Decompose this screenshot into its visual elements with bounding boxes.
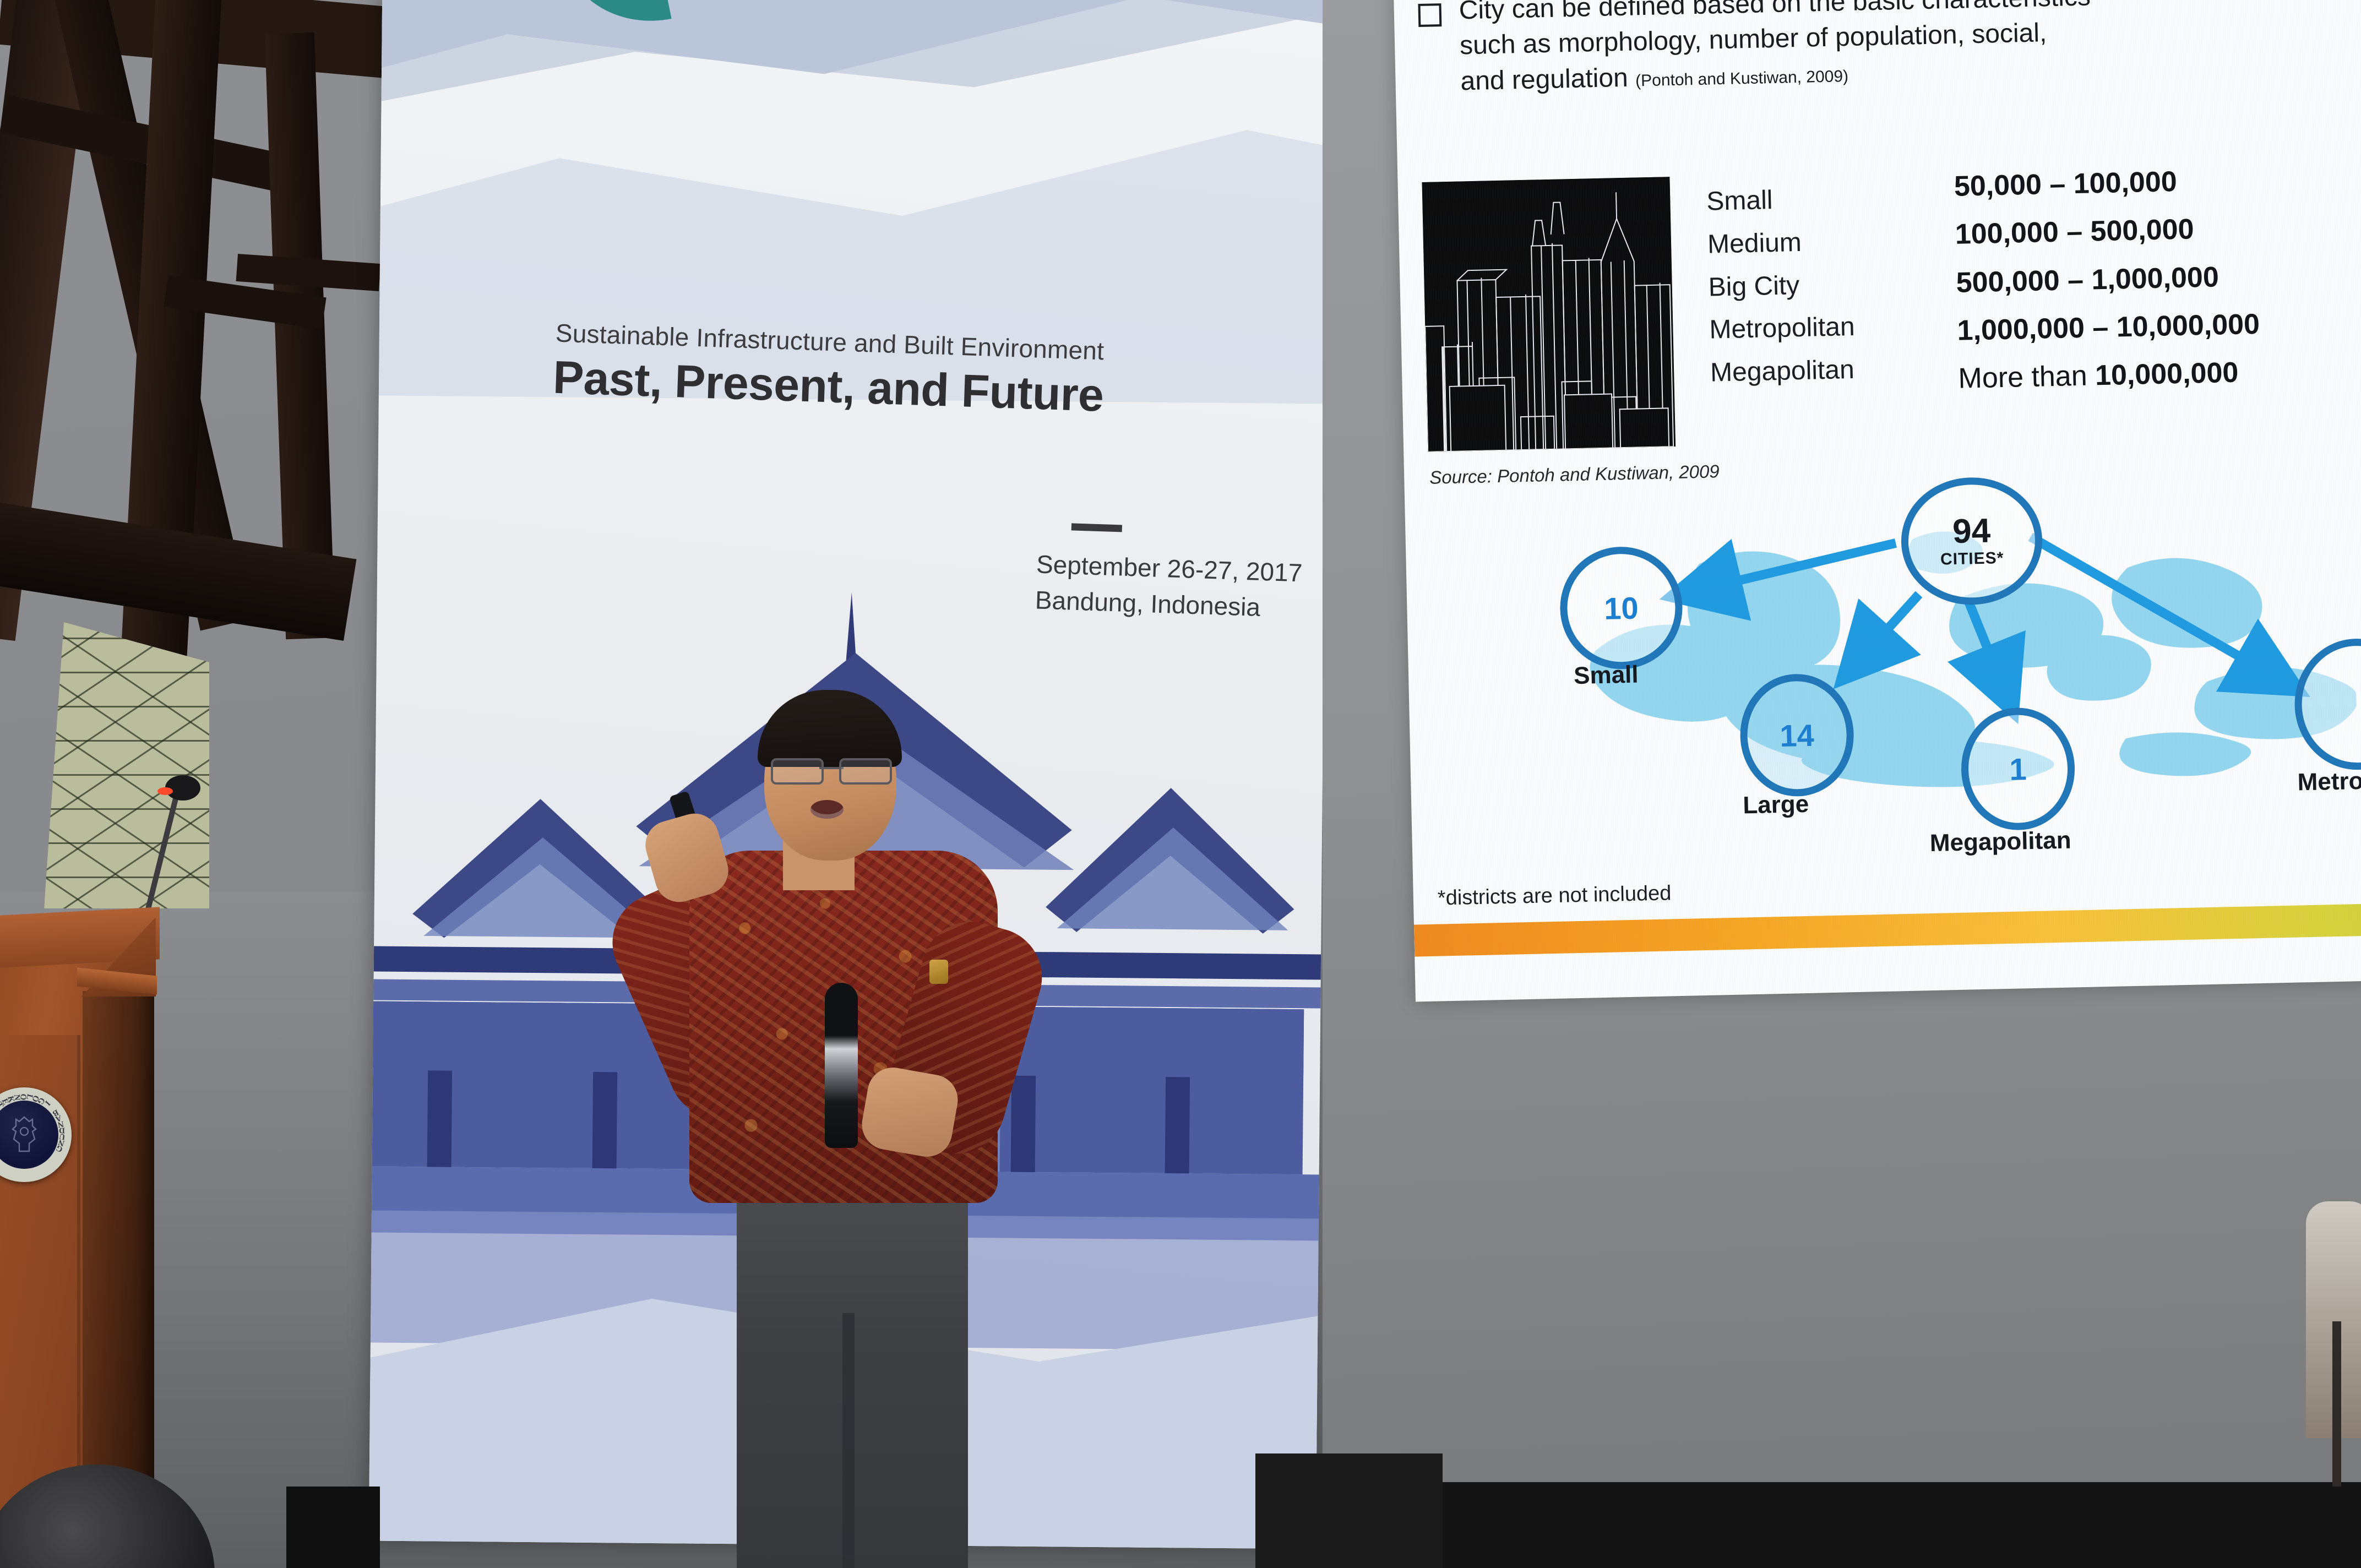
city-class-label: Megapolitan bbox=[1710, 349, 1856, 394]
lattice-window bbox=[44, 622, 209, 908]
speaker-mouth bbox=[810, 800, 844, 819]
city-skyline-image bbox=[1422, 177, 1676, 452]
slide-bullet: City can be defined based on the basic c… bbox=[1418, 0, 2361, 100]
total-cities-caption: CITIES* bbox=[1940, 549, 2004, 569]
bullet-citation: (Pontoh and Kustiwan, 2009) bbox=[1635, 67, 1849, 90]
megapolitan-count: 1 bbox=[2009, 751, 2027, 787]
speaker-lapel-pin bbox=[929, 960, 948, 984]
projected-slide: City can be defined based on the basic c… bbox=[1393, 0, 2361, 1002]
city-distribution-diagram: 94 CITIES* 10 14 1 Small Large Megapolit… bbox=[1405, 462, 2361, 925]
city-population-range: 50,000 – 100,000 bbox=[1954, 156, 2257, 211]
conference-logo bbox=[553, 0, 736, 46]
screenshot-root: INSTITUT TEKNOLOGI BANDUNG Sustainable I… bbox=[0, 0, 2361, 1568]
loudspeaker bbox=[286, 1487, 380, 1568]
diagram-arrows bbox=[1405, 462, 2361, 925]
speaker-hair bbox=[758, 690, 902, 767]
speaker-trouser-seam bbox=[842, 1313, 855, 1568]
eyeglass-lens-left bbox=[771, 758, 824, 785]
small-count: 10 bbox=[1604, 590, 1639, 626]
skyline-wireframe-icon bbox=[1422, 177, 1676, 452]
city-class-label: Small bbox=[1706, 177, 1853, 223]
diagram-label-megapolitan: Megapolitan bbox=[1929, 827, 2071, 858]
window-mullion bbox=[44, 842, 209, 908]
window-mullion bbox=[44, 706, 209, 707]
eyeglass-lens-right bbox=[839, 758, 892, 785]
logo-swoosh-teal bbox=[563, 0, 671, 37]
handheld-microphone bbox=[825, 983, 858, 1148]
city-population-range: 1,000,000 – 10,000,000 bbox=[1957, 301, 2260, 355]
city-population-range: More than 10,000,000 bbox=[1958, 349, 2261, 403]
stage-floor-riser bbox=[1255, 1453, 1443, 1568]
window-mullion bbox=[44, 672, 209, 673]
diagram-label-large: Large bbox=[1743, 791, 1809, 820]
population-range-values: 50,000 – 100,000100,000 – 500,000500,000… bbox=[1954, 156, 2261, 404]
temple-column bbox=[427, 1070, 453, 1169]
temple-column bbox=[1165, 1077, 1190, 1176]
window-mullion bbox=[44, 808, 209, 810]
total-cities-value: 94 bbox=[1952, 514, 1990, 548]
eyeglasses-icon bbox=[771, 758, 892, 780]
city-class-label: Metropolitan bbox=[1709, 306, 1856, 351]
bullet-text: City can be defined based on the basic c… bbox=[1459, 0, 2092, 99]
emblem-ring-char: I bbox=[42, 1098, 52, 1108]
diagram-label-metro: Metro bbox=[2297, 767, 2361, 797]
itb-emblem: INSTITUT TEKNOLOGI BANDUNG bbox=[0, 1087, 72, 1182]
city-class-labels: SmallMediumBig CityMetropolitanMegapolit… bbox=[1706, 177, 1857, 394]
ganesha-icon bbox=[7, 1115, 41, 1155]
city-class-label: Big City bbox=[1708, 263, 1854, 308]
window-mullion bbox=[44, 848, 209, 908]
diagram-label-small: Small bbox=[1574, 661, 1639, 690]
banner-date-location: September 26-27, 2017 Bandung, Indonesia bbox=[1035, 546, 1329, 631]
city-population-range: 100,000 – 500,000 bbox=[1955, 204, 2258, 259]
microphone-indicator-light bbox=[157, 787, 173, 795]
large-count: 14 bbox=[1780, 717, 1815, 753]
city-population-range: 500,000 – 1,000,000 bbox=[1956, 253, 2259, 307]
city-class-label: Medium bbox=[1707, 220, 1853, 266]
bullet-checkbox-icon bbox=[1418, 3, 1441, 27]
speaker-person bbox=[606, 685, 1057, 1568]
chair-leg bbox=[2332, 1321, 2341, 1487]
